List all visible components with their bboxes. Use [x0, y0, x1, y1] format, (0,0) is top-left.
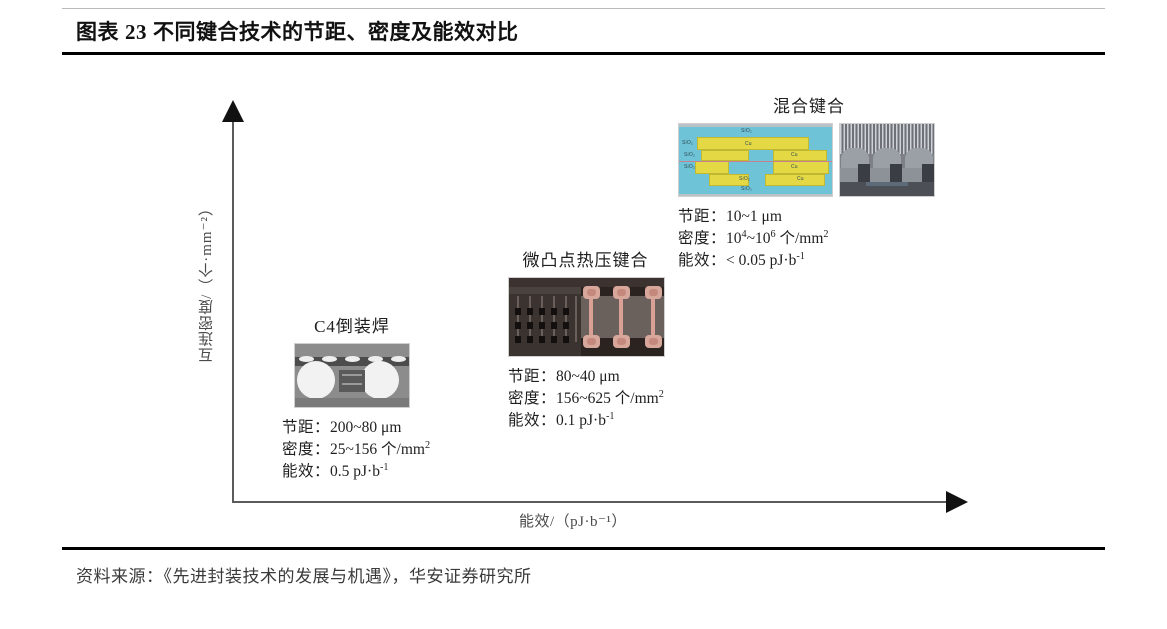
- hb-copper: [765, 174, 825, 186]
- mb-bump: [583, 286, 600, 299]
- spec-energy-row: 能效：0.5 pJ·b-1: [282, 461, 430, 483]
- mb-copper-pillar: [589, 297, 593, 337]
- mb-bump: [645, 286, 662, 299]
- hb-bond-interface: [679, 161, 832, 162]
- mb-bump: [645, 335, 662, 348]
- c4-solder-ball: [361, 361, 399, 399]
- spec-density-exponent: 2: [659, 389, 664, 400]
- specs-hybrid: 节距：10~1 μm 密度：104~106 个/mm2 能效：< 0.05 pJ…: [678, 206, 940, 272]
- spec-energy-exponent: -1: [380, 462, 389, 473]
- spec-pitch-row: 节距：200~80 μm: [282, 417, 430, 439]
- spec-density-row: 密度：25~156 个/mm2: [282, 439, 430, 461]
- source-text: 《先进封装技术的发展与机遇》，华安证券研究所: [164, 567, 532, 586]
- hybrid-bonding-schematic-image: SiO₂ SiO₂ Cu SiO₂ Cu SiO₂ Cu SiO₂ Cu SiO…: [678, 123, 833, 197]
- hybrid-image-row: SiO₂ SiO₂ Cu SiO₂ Cu SiO₂ Cu SiO₂ Cu SiO…: [678, 123, 940, 197]
- mb-bump: [583, 335, 600, 348]
- title-divider: [62, 52, 1105, 55]
- y-axis-label: 互连密度/（个·mm⁻²）: [196, 200, 216, 363]
- hb-label-sio2: SiO₂: [739, 176, 750, 182]
- hybrid-bonding-tem-image: [839, 123, 935, 197]
- tem-scale-bar: [866, 182, 908, 186]
- spec-pitch-row: 节距：80~40 μm: [508, 366, 665, 388]
- y-axis-line: [232, 118, 234, 503]
- spec-pitch-key: 节距：: [508, 368, 556, 385]
- figure-page: 图表23不同键合技术的节距、密度及能效对比 互连密度/（个·mm⁻²） 能效/（…: [0, 0, 1167, 629]
- spec-energy-exponent: -1: [606, 411, 615, 422]
- c4-flip-chip-sem-image: [294, 343, 410, 408]
- spec-pitch-key: 节距：: [282, 419, 330, 436]
- hb-copper: [695, 161, 729, 174]
- spec-density-row: 密度：104~106 个/mm2: [678, 228, 940, 250]
- hb-label-cu: Cu: [745, 141, 752, 147]
- spec-density-value: 156~625 个/mm: [556, 390, 659, 407]
- c4-pad: [322, 356, 337, 362]
- spec-energy-value: < 0.05 pJ·b: [726, 252, 796, 269]
- x-axis-line: [232, 501, 950, 503]
- hb-label-sio2: SiO₂: [741, 186, 752, 192]
- group-title-c4: C4倒装焊: [282, 312, 422, 337]
- spec-energy-key: 能效：: [508, 412, 556, 429]
- hb-copper: [697, 137, 809, 150]
- hb-label-cu: Cu: [791, 152, 798, 158]
- specs-microbump: 节距：80~40 μm 密度：156~625 个/mm2 能效：0.1 pJ·b…: [508, 366, 665, 432]
- spec-energy-exponent: -1: [796, 251, 805, 262]
- spec-density-unit: 个/mm: [776, 230, 824, 247]
- tem-mid-layer: [840, 168, 934, 182]
- hb-label-cu: Cu: [797, 176, 804, 182]
- spec-density-base1: 10: [726, 230, 742, 247]
- mb-copper-pillar: [651, 297, 655, 337]
- hb-label-sio2: SiO₂: [741, 128, 752, 134]
- x-axis-arrow-icon: [946, 491, 968, 513]
- c4-base-layer: [295, 398, 409, 407]
- mb-bump: [613, 335, 630, 348]
- spec-energy-value: 0.1 pJ·b: [556, 412, 606, 429]
- page-title: 图表23不同键合技术的节距、密度及能效对比: [76, 16, 519, 46]
- spec-energy-key: 能效：: [678, 252, 726, 269]
- spec-density-row: 密度：156~625 个/mm2: [508, 388, 665, 410]
- spec-pitch-value: 80~40 μm: [556, 368, 620, 385]
- spec-energy-row: 能效：< 0.05 pJ·b-1: [678, 250, 940, 272]
- group-c4: C4倒装焊 节距：200~80 μm 密度：25~156 个/mm2 能效：: [282, 312, 430, 483]
- top-divider: [62, 8, 1105, 9]
- c4-solder-ball: [297, 361, 335, 399]
- spec-density-exponent3: 2: [823, 229, 828, 240]
- group-microbump: 微凸点热压键合: [508, 246, 665, 432]
- figure-number: 23: [125, 20, 147, 44]
- spec-density-base2: ~10: [747, 230, 771, 247]
- c4-pad: [345, 356, 360, 362]
- group-hybrid: 混合键合 SiO₂: [678, 92, 940, 272]
- spec-density-key: 密度：: [282, 441, 330, 458]
- c4-pad: [391, 356, 406, 362]
- mb-copper-pillar: [619, 297, 623, 337]
- figure-label: 图表: [76, 20, 119, 44]
- spec-density-key: 密度：: [678, 230, 726, 247]
- y-axis-arrow-icon: [222, 100, 244, 122]
- hb-copper: [773, 150, 827, 161]
- figure-title-text: 不同键合技术的节距、密度及能效对比: [153, 20, 519, 44]
- group-title-hybrid: 混合键合: [678, 92, 940, 117]
- spec-pitch-key: 节距：: [678, 208, 726, 225]
- spec-density-key: 密度：: [508, 390, 556, 407]
- spec-energy-value: 0.5 pJ·b: [330, 463, 380, 480]
- mb-bump: [613, 286, 630, 299]
- x-axis-label: 能效/（pJ·b⁻¹）: [519, 510, 627, 531]
- hb-copper: [773, 161, 829, 174]
- group-title-microbump: 微凸点热压键合: [508, 246, 663, 271]
- spec-density-value: 25~156 个/mm: [330, 441, 425, 458]
- bottom-divider: [62, 547, 1105, 550]
- source-note: 资料来源：《先进封装技术的发展与机遇》，华安证券研究所: [76, 562, 532, 587]
- spec-pitch-value: 10~1 μm: [726, 208, 782, 225]
- spec-energy-row: 能效：0.1 pJ·b-1: [508, 410, 665, 432]
- hb-label-cu: Cu: [791, 164, 798, 170]
- microbump-thermocompression-image: [508, 277, 665, 357]
- spec-energy-key: 能效：: [282, 463, 330, 480]
- c4-middle-region: [339, 370, 365, 392]
- spec-density-exponent: 2: [425, 440, 430, 451]
- hb-label-sio2: SiO₂: [684, 152, 695, 158]
- spec-pitch-value: 200~80 μm: [330, 419, 401, 436]
- spec-pitch-row: 节距：10~1 μm: [678, 206, 940, 228]
- specs-c4: 节距：200~80 μm 密度：25~156 个/mm2 能效：0.5 pJ·b…: [282, 417, 430, 483]
- hb-label-sio2: SiO₂: [682, 140, 693, 146]
- source-label: 资料来源：: [76, 567, 164, 586]
- hb-copper: [701, 150, 749, 161]
- hb-label-sio2: SiO₂: [684, 164, 695, 170]
